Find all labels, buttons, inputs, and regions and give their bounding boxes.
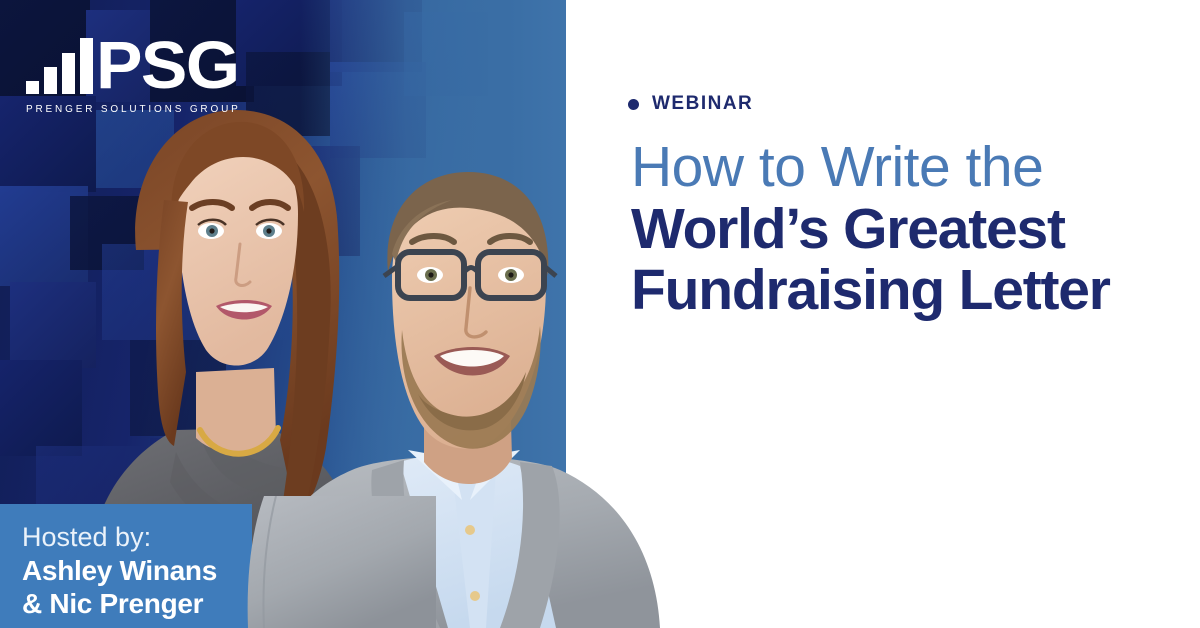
webinar-promo-card: PSG PRENGER SOLUTIONS GROUP: [0, 0, 1200, 628]
hosted-by-banner: Hosted by: Ashley Winans & Nic Prenger: [0, 504, 252, 628]
headline-line-1: How to Write the: [631, 137, 1191, 199]
hosted-by-label: Hosted by:: [22, 522, 252, 554]
logo-lockup: PSG: [26, 26, 236, 94]
logo-tagline: PRENGER SOLUTIONS GROUP: [26, 103, 226, 115]
logo-wordmark: PSG: [96, 39, 238, 94]
host-name-line-1: Ashley Winans: [22, 554, 252, 588]
psg-logo: PSG PRENGER SOLUTIONS GROUP: [26, 26, 236, 115]
right-content: WEBINAR How to Write the World’s Greates…: [628, 0, 1200, 628]
headline-line-2: World’s Greatest: [631, 199, 1191, 260]
headline-line-3: Fundraising Letter: [631, 260, 1191, 321]
page-title: How to Write the World’s Greatest Fundra…: [631, 137, 1191, 321]
host-name-line-2: & Nic Prenger: [22, 587, 252, 621]
bar-chart-icon: [26, 38, 93, 94]
shoulder-overlap: [236, 496, 436, 628]
